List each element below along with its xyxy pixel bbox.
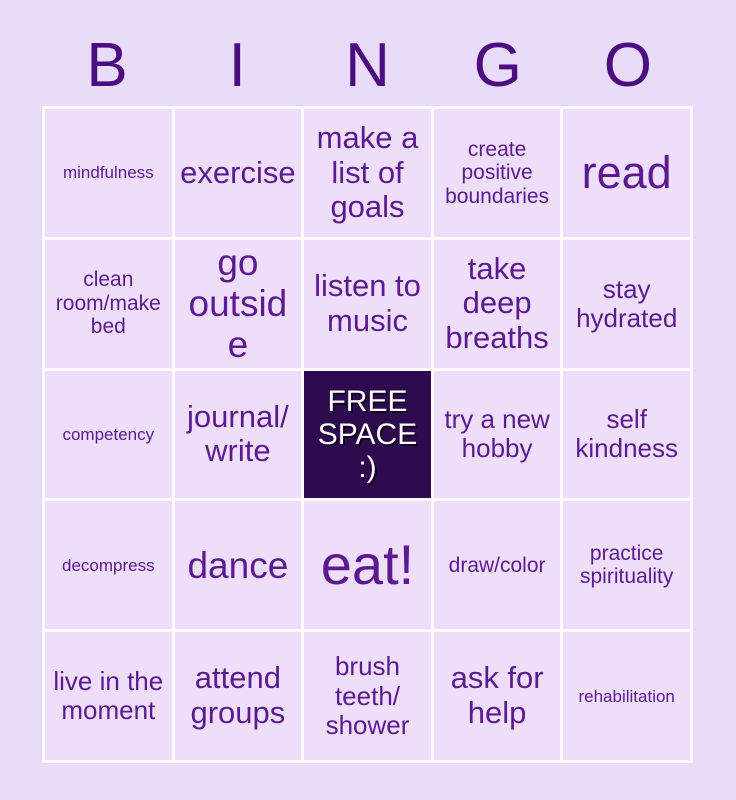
header-letter-i: I (172, 35, 302, 97)
bingo-cell[interactable]: try a new hobby (434, 371, 561, 499)
bingo-cell[interactable]: stay hydrated (563, 240, 690, 368)
bingo-cell[interactable]: take deep breaths (434, 240, 561, 368)
bingo-cell[interactable]: clean room/make bed (45, 240, 172, 368)
bingo-cell[interactable]: go outside (175, 240, 302, 368)
bingo-cell[interactable]: listen to music (304, 240, 431, 368)
bingo-cell[interactable]: rehabilitation (563, 632, 690, 760)
bingo-cell[interactable]: practice spirituality (563, 501, 690, 629)
bingo-cell[interactable]: self kindness (563, 371, 690, 499)
bingo-card: B I N G O mindfulnessexercisemake a list… (0, 0, 736, 800)
bingo-cell[interactable]: read (563, 109, 690, 237)
bingo-header-row: B I N G O (42, 30, 693, 102)
bingo-cell-free-space[interactable]: FREE SPACE :) (304, 371, 431, 499)
header-letter-o: O (563, 35, 693, 97)
bingo-cell[interactable]: decompress (45, 501, 172, 629)
bingo-cell[interactable]: draw/color (434, 501, 561, 629)
header-letter-g: G (433, 35, 563, 97)
bingo-cell[interactable]: brush teeth/ shower (304, 632, 431, 760)
bingo-cell[interactable]: attend groups (175, 632, 302, 760)
bingo-cell[interactable]: live in the moment (45, 632, 172, 760)
header-letter-b: B (42, 35, 172, 97)
bingo-grid: mindfulnessexercisemake a list of goalsc… (42, 106, 693, 763)
bingo-cell[interactable]: competency (45, 371, 172, 499)
bingo-cell[interactable]: make a list of goals (304, 109, 431, 237)
bingo-cell[interactable]: journal/ write (175, 371, 302, 499)
bingo-cell[interactable]: eat! (304, 501, 431, 629)
bingo-cell[interactable]: exercise (175, 109, 302, 237)
bingo-cell[interactable]: ask for help (434, 632, 561, 760)
bingo-cell[interactable]: create positive boundaries (434, 109, 561, 237)
bingo-cell[interactable]: mindfulness (45, 109, 172, 237)
header-letter-n: N (302, 35, 432, 97)
bingo-cell[interactable]: dance (175, 501, 302, 629)
